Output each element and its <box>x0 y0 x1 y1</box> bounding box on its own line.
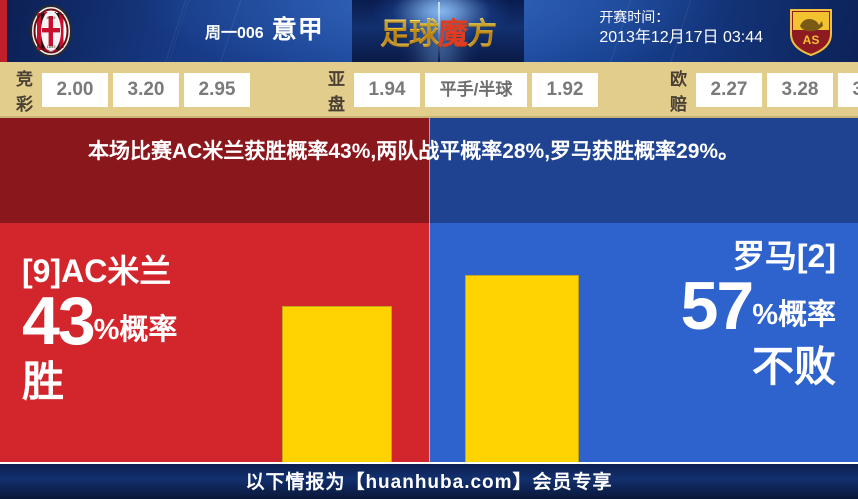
brand-logo: 足球魔方 <box>352 0 524 62</box>
svg-text:AS: AS <box>803 33 820 47</box>
home-probability-bar <box>282 306 392 462</box>
odds-group-label: 竞彩 <box>16 65 34 115</box>
kickoff-label: 开赛时间： <box>599 8 763 27</box>
odds-value[interactable]: 1.94 <box>354 73 420 107</box>
home-half: [9]AC米兰 43 %概率 胜 <box>0 118 429 462</box>
odds-group-oupei: 欧赔 2.27 3.28 3.06 <box>670 65 858 115</box>
odds-bar: 竞彩 2.00 3.20 2.95 亚盘 1.94 平手/半球 1.92 欧赔 … <box>0 62 858 118</box>
home-outcome-label: 胜 <box>22 358 177 406</box>
home-summary-band <box>0 118 429 223</box>
svg-text:ACM: ACM <box>47 15 56 20</box>
away-half: 罗马[2] 57 %概率 不败 <box>429 118 858 462</box>
odds-group-yapan: 亚盘 1.94 平手/半球 1.92 <box>328 65 598 115</box>
odds-value[interactable]: 3.20 <box>113 73 179 107</box>
odds-group-label: 欧赔 <box>670 65 688 115</box>
odds-value[interactable]: 3.06 <box>838 73 858 107</box>
odds-value[interactable]: 1.92 <box>532 73 598 107</box>
home-stats: [9]AC米兰 43 %概率 胜 <box>22 253 177 407</box>
odds-handicap-value[interactable]: 平手/半球 <box>425 73 527 107</box>
away-pane: 罗马[2] 57 %概率 不败 <box>429 223 858 462</box>
match-league: 意甲 <box>272 10 324 46</box>
away-summary-band <box>429 118 858 223</box>
odds-value[interactable]: 2.00 <box>42 73 108 107</box>
header-bar: ACM 1899 周一006 意甲 足球魔方 开赛时间： 2013年12月17日… <box>0 0 858 62</box>
odds-value[interactable]: 3.28 <box>767 73 833 107</box>
match-title: 周一006 意甲 <box>205 10 324 46</box>
odds-group-label: 亚盘 <box>328 65 346 115</box>
away-probability-row: 57 %概率 <box>681 275 836 338</box>
ac-milan-crest-icon: ACM 1899 <box>24 4 78 58</box>
kickoff-time: 开赛时间： 2013年12月17日 03:44 <box>599 8 763 48</box>
footer-bar: 以下情报为【huanhuba.com】会员专享 <box>0 462 858 499</box>
odds-value[interactable]: 2.27 <box>696 73 762 107</box>
away-outcome-label: 不败 <box>681 343 836 391</box>
header-diagonal-decoration <box>155 0 196 62</box>
away-probability-value: 57 <box>681 275 753 338</box>
odds-value[interactable]: 2.95 <box>184 73 250 107</box>
kickoff-value: 2013年12月17日 03:44 <box>599 27 763 49</box>
match-summary-text: 本场比赛AC米兰获胜概率43%,两队战平概率28%,罗马获胜概率29%。 <box>88 136 778 169</box>
home-probability-suffix: %概率 <box>94 316 178 352</box>
match-round: 周一006 <box>205 19 264 43</box>
home-probability-value: 43 <box>22 290 94 353</box>
odds-group-jingcai: 竞彩 2.00 3.20 2.95 <box>16 65 250 115</box>
home-probability-row: 43 %概率 <box>22 290 177 353</box>
away-stats: 罗马[2] 57 %概率 不败 <box>681 238 836 392</box>
footer-text: 以下情报为【huanhuba.com】会员专享 <box>245 467 612 494</box>
brand-logo-text: 足球魔方 <box>380 9 496 53</box>
away-probability-bar <box>465 275 579 462</box>
away-probability-suffix: %概率 <box>752 301 836 337</box>
as-roma-crest-icon: AS <box>784 4 838 58</box>
probability-panel: [9]AC米兰 43 %概率 胜 罗马[2] 57 %概率 <box>0 118 858 462</box>
home-pane: [9]AC米兰 43 %概率 胜 <box>0 223 429 462</box>
svg-text:1899: 1899 <box>47 44 57 49</box>
match-preview-card: ACM 1899 周一006 意甲 足球魔方 开赛时间： 2013年12月17日… <box>0 0 858 499</box>
panel-divider <box>429 118 430 462</box>
